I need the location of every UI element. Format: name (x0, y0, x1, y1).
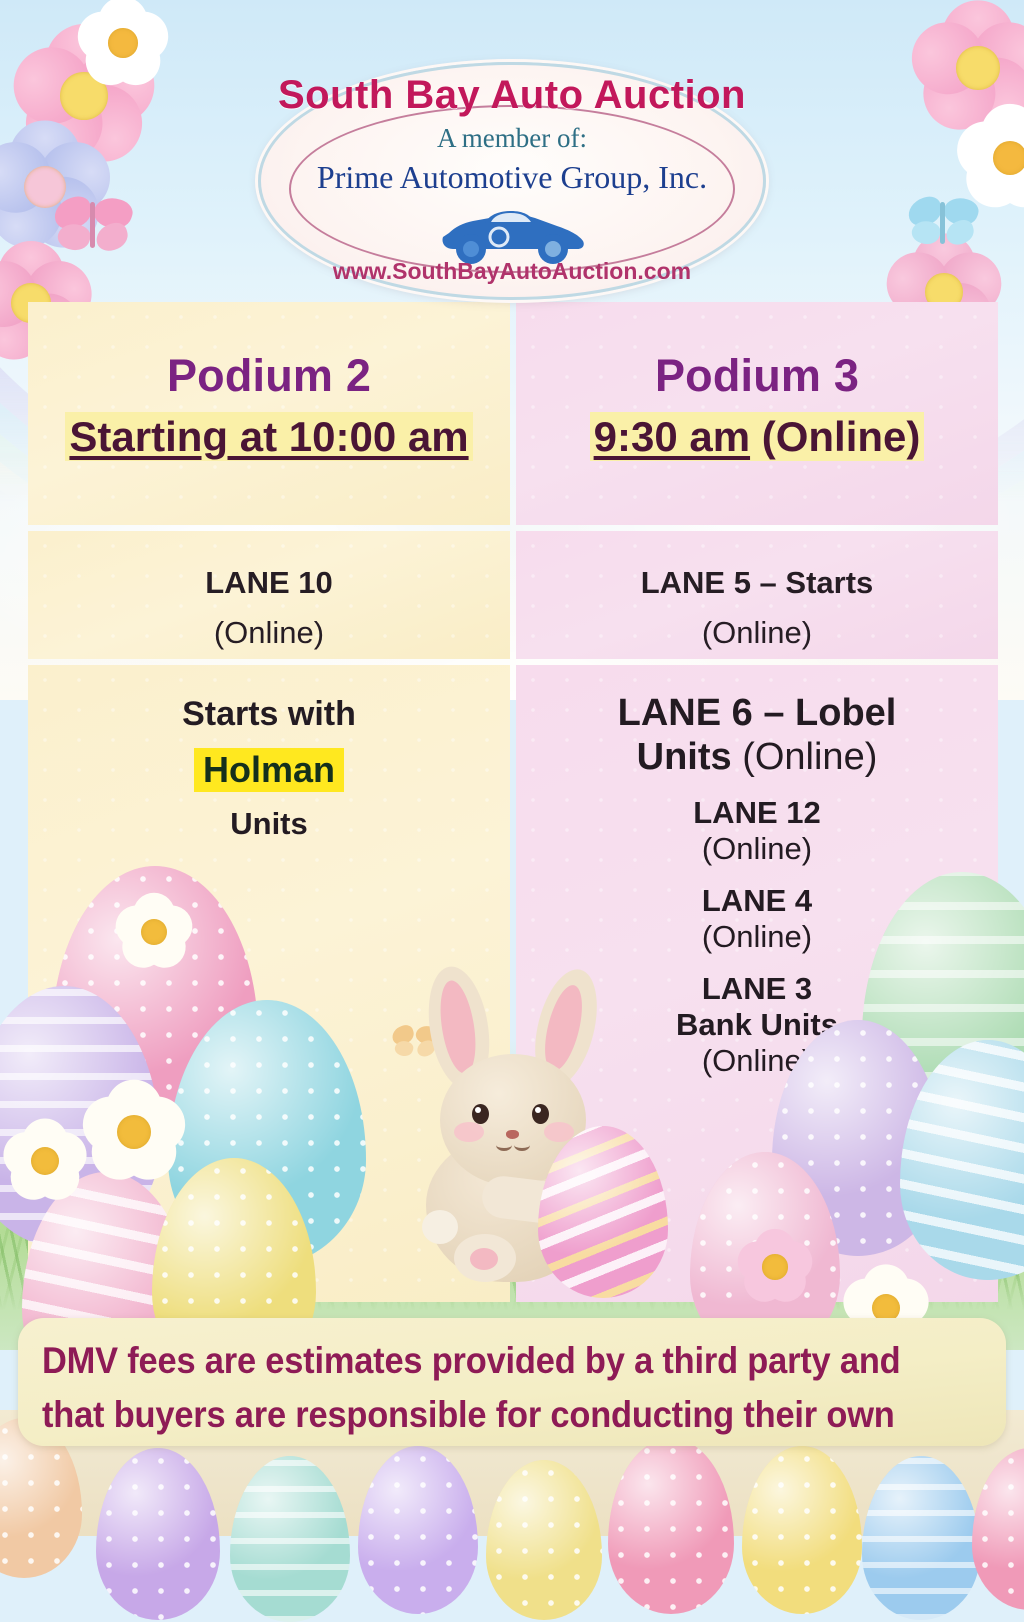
podium3-header-cell: Podium 3 9:30 am (Online) (516, 302, 998, 525)
dmv-line-2: that buyers are responsible for conducti… (42, 1388, 920, 1442)
logo-brand: South Bay Auto Auction (261, 73, 763, 118)
lane6-feature: LANE 6 – Lobel Units (Online) (526, 691, 988, 779)
podium2-title: Podium 2 (38, 350, 500, 402)
company-logo: South Bay Auto Auction A member of: Prim… (258, 62, 766, 300)
units-label: Units (38, 806, 500, 842)
schedule-table: Podium 2 Starting at 10:00 am Podium 3 9… (28, 302, 998, 1302)
podium2-lane-cell-2: Starts with Holman Units (28, 665, 510, 1302)
lane-mode: (Online) (526, 831, 988, 867)
lane-mode: (Online) (526, 919, 988, 955)
lane-mode: (Online) (526, 1043, 988, 1079)
podium3-time-mode: (Online) (750, 413, 920, 460)
podium2-lane-cell-1: LANE 10 (Online) (28, 531, 510, 659)
podium2-header-cell: Podium 2 Starting at 10:00 am (28, 302, 510, 525)
list-item: LANE 4 (Online) (526, 883, 988, 955)
podium2-time-underlined: Starting at 10:00 am (65, 412, 472, 461)
dmv-disclaimer-banner: DMV fees are estimates provided by a thi… (18, 1318, 1006, 1446)
lane-name: LANE 6 – Lobel (618, 692, 897, 734)
list-item: LANE 12 (Online) (526, 795, 988, 867)
lane-subname: Bank Units (526, 1007, 988, 1043)
flower-icon (82, 2, 164, 84)
podium3-lane-cell-1: LANE 5 – Starts (Online) (516, 531, 998, 659)
table-row: LANE 10 (Online) (38, 565, 500, 651)
lane-name: LANE 10 (205, 565, 332, 600)
podium2-time: Starting at 10:00 am (38, 414, 500, 460)
lane-mode: (Online) (742, 736, 877, 778)
butterfly-icon (908, 196, 978, 252)
lane-mode: (Online) (526, 615, 988, 651)
podium3-lane-cell-2: LANE 6 – Lobel Units (Online) LANE 12 (O… (516, 665, 998, 1302)
lane-name: LANE 5 – Starts (641, 565, 874, 600)
logo-member-label: A member of: (261, 123, 763, 154)
lane-name: LANE 12 (693, 795, 820, 830)
podium3-time-underlined: 9:30 am (594, 413, 750, 460)
list-item: LANE 3 Bank Units (Online) (526, 971, 988, 1079)
lane-units-label: Units (637, 736, 743, 778)
podium3-title: Podium 3 (526, 350, 988, 402)
podium3-time: 9:30 am (Online) (526, 414, 988, 460)
dmv-line-1: DMV fees are estimates provided by a thi… (42, 1334, 920, 1388)
logo-website-url: www.SouthBayAutoAuction.com (261, 258, 763, 285)
logo-company-name: Prime Automotive Group, Inc. (261, 159, 763, 196)
lane-mode: (Online) (38, 615, 500, 651)
starts-with-label: Starts with (38, 695, 500, 734)
butterfly-icon (54, 196, 132, 258)
holman-highlight: Holman (194, 748, 344, 792)
table-row: LANE 5 – Starts (Online) (526, 565, 988, 651)
lane-name: LANE 4 (702, 883, 812, 918)
lane-name: LANE 3 (702, 971, 812, 1006)
flower-icon (962, 110, 1024, 206)
